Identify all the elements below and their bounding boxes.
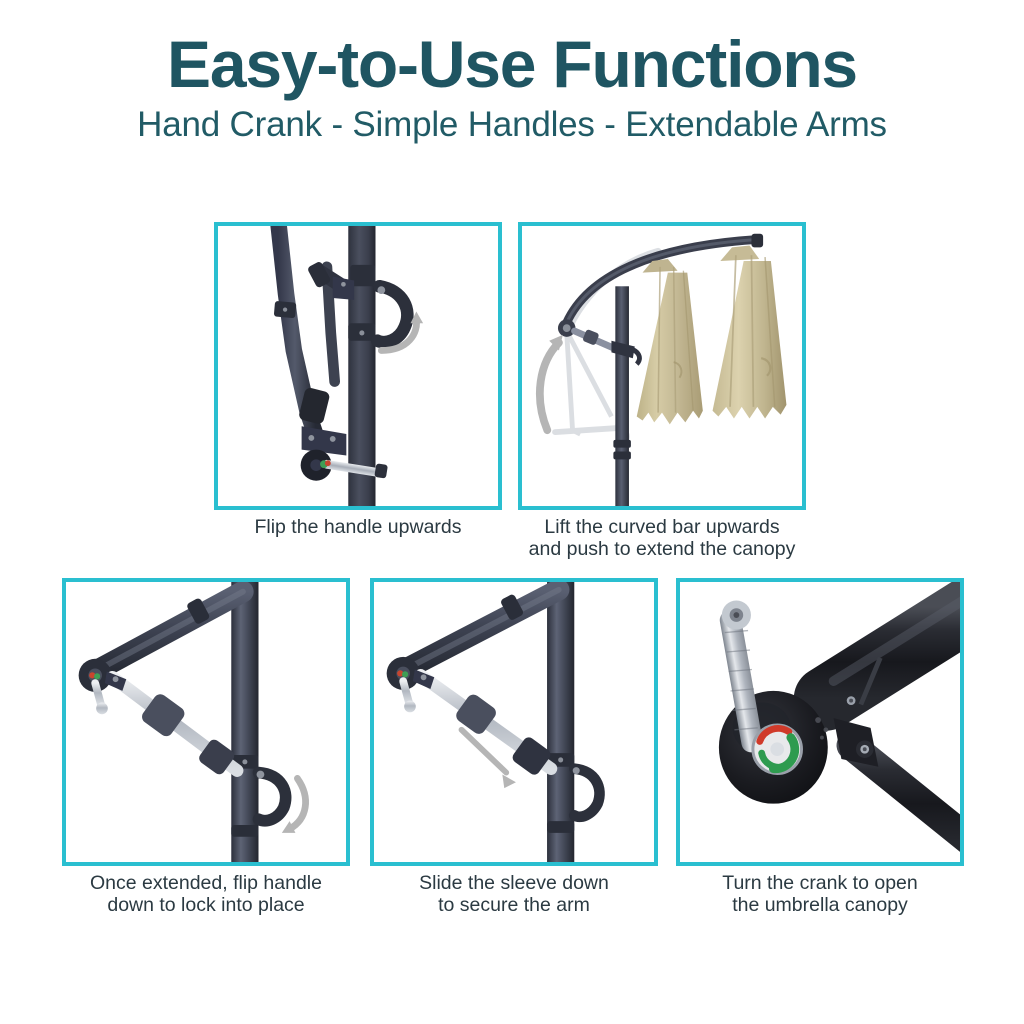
step-2-image (522, 226, 802, 506)
step-panel-5[interactable] (676, 578, 964, 866)
step-3-image (66, 582, 346, 862)
step-5-image (680, 582, 960, 862)
infographic-page: Easy-to-Use Functions Hand Crank - Simpl… (0, 0, 1024, 1024)
page-title: Easy-to-Use Functions (0, 30, 1024, 100)
step-panel-4[interactable] (370, 578, 658, 866)
page-subtitle: Hand Crank - Simple Handles - Extendable… (0, 106, 1024, 145)
step-panel-3[interactable] (62, 578, 350, 866)
step-panel-1[interactable] (214, 222, 502, 510)
step-caption-4: Slide the sleeve down to secure the arm (358, 872, 670, 916)
step-caption-3: Once extended, flip handle down to lock … (50, 872, 362, 916)
step-1-image (218, 226, 498, 506)
step-4-image (374, 582, 654, 862)
step-caption-5: Turn the crank to open the umbrella cano… (664, 872, 976, 916)
step-caption-1: Flip the handle upwards (214, 516, 502, 538)
step-caption-2: Lift the curved bar upwards and push to … (506, 516, 818, 560)
step-panel-2[interactable] (518, 222, 806, 510)
header: Easy-to-Use Functions Hand Crank - Simpl… (0, 30, 1024, 144)
